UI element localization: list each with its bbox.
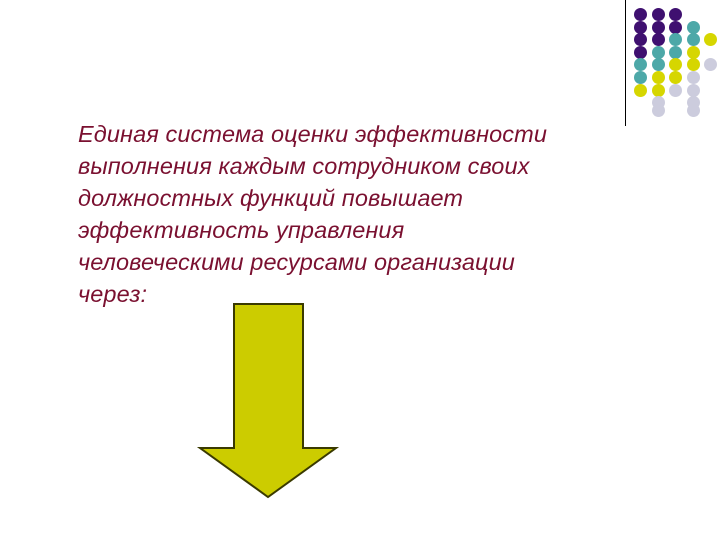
body-text-line: Единая система оценки эффективности [78, 118, 698, 150]
decorative-dot [634, 8, 647, 21]
decorative-dot [652, 58, 665, 71]
decorative-dot [669, 46, 682, 59]
slide-body-text: Единая система оценки эффективности выпо… [78, 118, 698, 310]
decorative-dot [687, 33, 700, 46]
decorative-dot [634, 58, 647, 71]
decorative-dot [634, 71, 647, 84]
decorative-dot [669, 58, 682, 71]
decorative-dot [669, 33, 682, 46]
body-text-line: человеческими ресурсами организации [78, 246, 698, 278]
decorative-dot-grid [634, 8, 720, 122]
decorative-dot [687, 104, 700, 117]
decorative-dot [669, 8, 682, 21]
body-text-line: через: [78, 278, 698, 310]
decorative-dot [687, 84, 700, 97]
decorative-vertical-rule [625, 0, 626, 126]
decorative-dot [687, 58, 700, 71]
decorative-dot [652, 46, 665, 59]
decorative-dot [634, 46, 647, 59]
body-text-line: выполнения каждым сотрудником своих [78, 150, 698, 182]
decorative-dot [634, 21, 647, 34]
decorative-dot [704, 33, 717, 46]
decorative-dot [652, 33, 665, 46]
decorative-dot [634, 33, 647, 46]
decorative-dot [687, 46, 700, 59]
decorative-dot [704, 58, 717, 71]
decorative-dot [634, 84, 647, 97]
decorative-dot [669, 21, 682, 34]
decorative-dot [652, 8, 665, 21]
decorative-dot [652, 104, 665, 117]
decorative-dot [669, 84, 682, 97]
body-text-line: должностных функций повышает [78, 182, 698, 214]
decorative-dot [687, 71, 700, 84]
decorative-dot [652, 71, 665, 84]
decorative-dot [652, 21, 665, 34]
down-arrow-polygon [200, 304, 336, 497]
down-arrow-shape [196, 300, 342, 504]
body-text-line: эффективность управления [78, 214, 698, 246]
decorative-dot [652, 84, 665, 97]
decorative-dot [669, 71, 682, 84]
decorative-dot [687, 21, 700, 34]
slide-canvas: Единая система оценки эффективности выпо… [0, 0, 720, 540]
